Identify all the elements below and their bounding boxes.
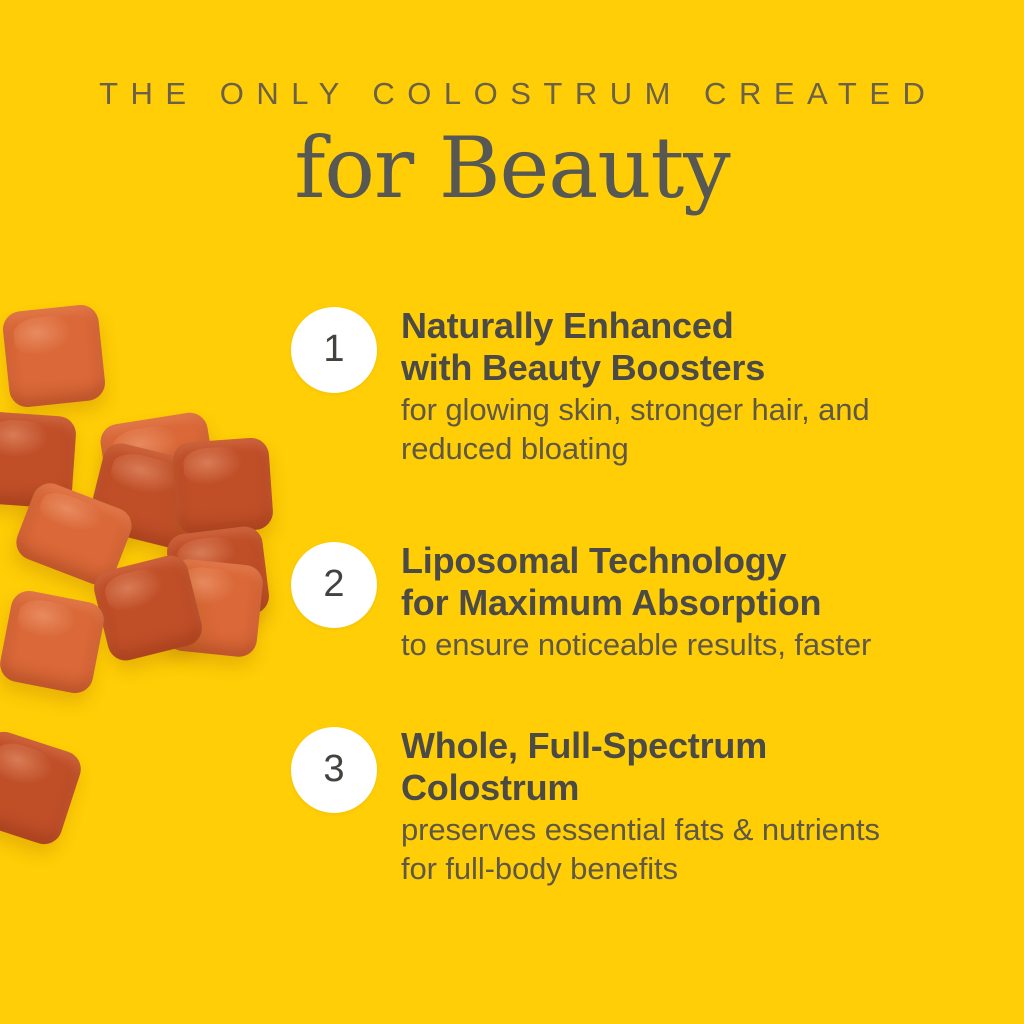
benefit-title-2: Liposomal Technology for Maximum Absorpt… bbox=[401, 540, 971, 624]
benefit-number-badge-3: 3 bbox=[291, 727, 377, 813]
benefit-copy-2: Liposomal Technology for Maximum Absorpt… bbox=[401, 540, 971, 665]
benefit-subtitle-2: to ensure noticeable results, faster bbox=[401, 626, 971, 664]
gummy-piece bbox=[172, 437, 274, 535]
page-title: for Beauty bbox=[0, 124, 1024, 212]
gummy-piece bbox=[0, 727, 85, 849]
benefit-number-1: 1 bbox=[323, 330, 344, 368]
benefit-subtitle-1: for glowing skin, stronger hair, and red… bbox=[401, 391, 971, 468]
eyebrow-heading: THE ONLY COLOSTRUM CREATED bbox=[0, 76, 1024, 112]
gummy-piece bbox=[0, 588, 107, 696]
benefit-number-3: 3 bbox=[323, 750, 344, 788]
benefit-title-1: Naturally Enhanced with Beauty Boosters bbox=[401, 305, 971, 389]
benefit-copy-3: Whole, Full-Spectrum Colostrum preserves… bbox=[401, 725, 971, 888]
benefit-number-badge-1: 1 bbox=[291, 307, 377, 393]
promo-poster: THE ONLY COLOSTRUM CREATED for Beauty 1 … bbox=[0, 0, 1024, 1024]
benefit-number-2: 2 bbox=[323, 565, 344, 603]
benefit-number-badge-2: 2 bbox=[291, 542, 377, 628]
benefit-title-3: Whole, Full-Spectrum Colostrum bbox=[401, 725, 971, 809]
gummy-piece bbox=[1, 303, 107, 409]
benefit-copy-1: Naturally Enhanced with Beauty Boosters … bbox=[401, 305, 971, 468]
benefit-subtitle-3: preserves essential fats & nutrients for… bbox=[401, 811, 971, 888]
